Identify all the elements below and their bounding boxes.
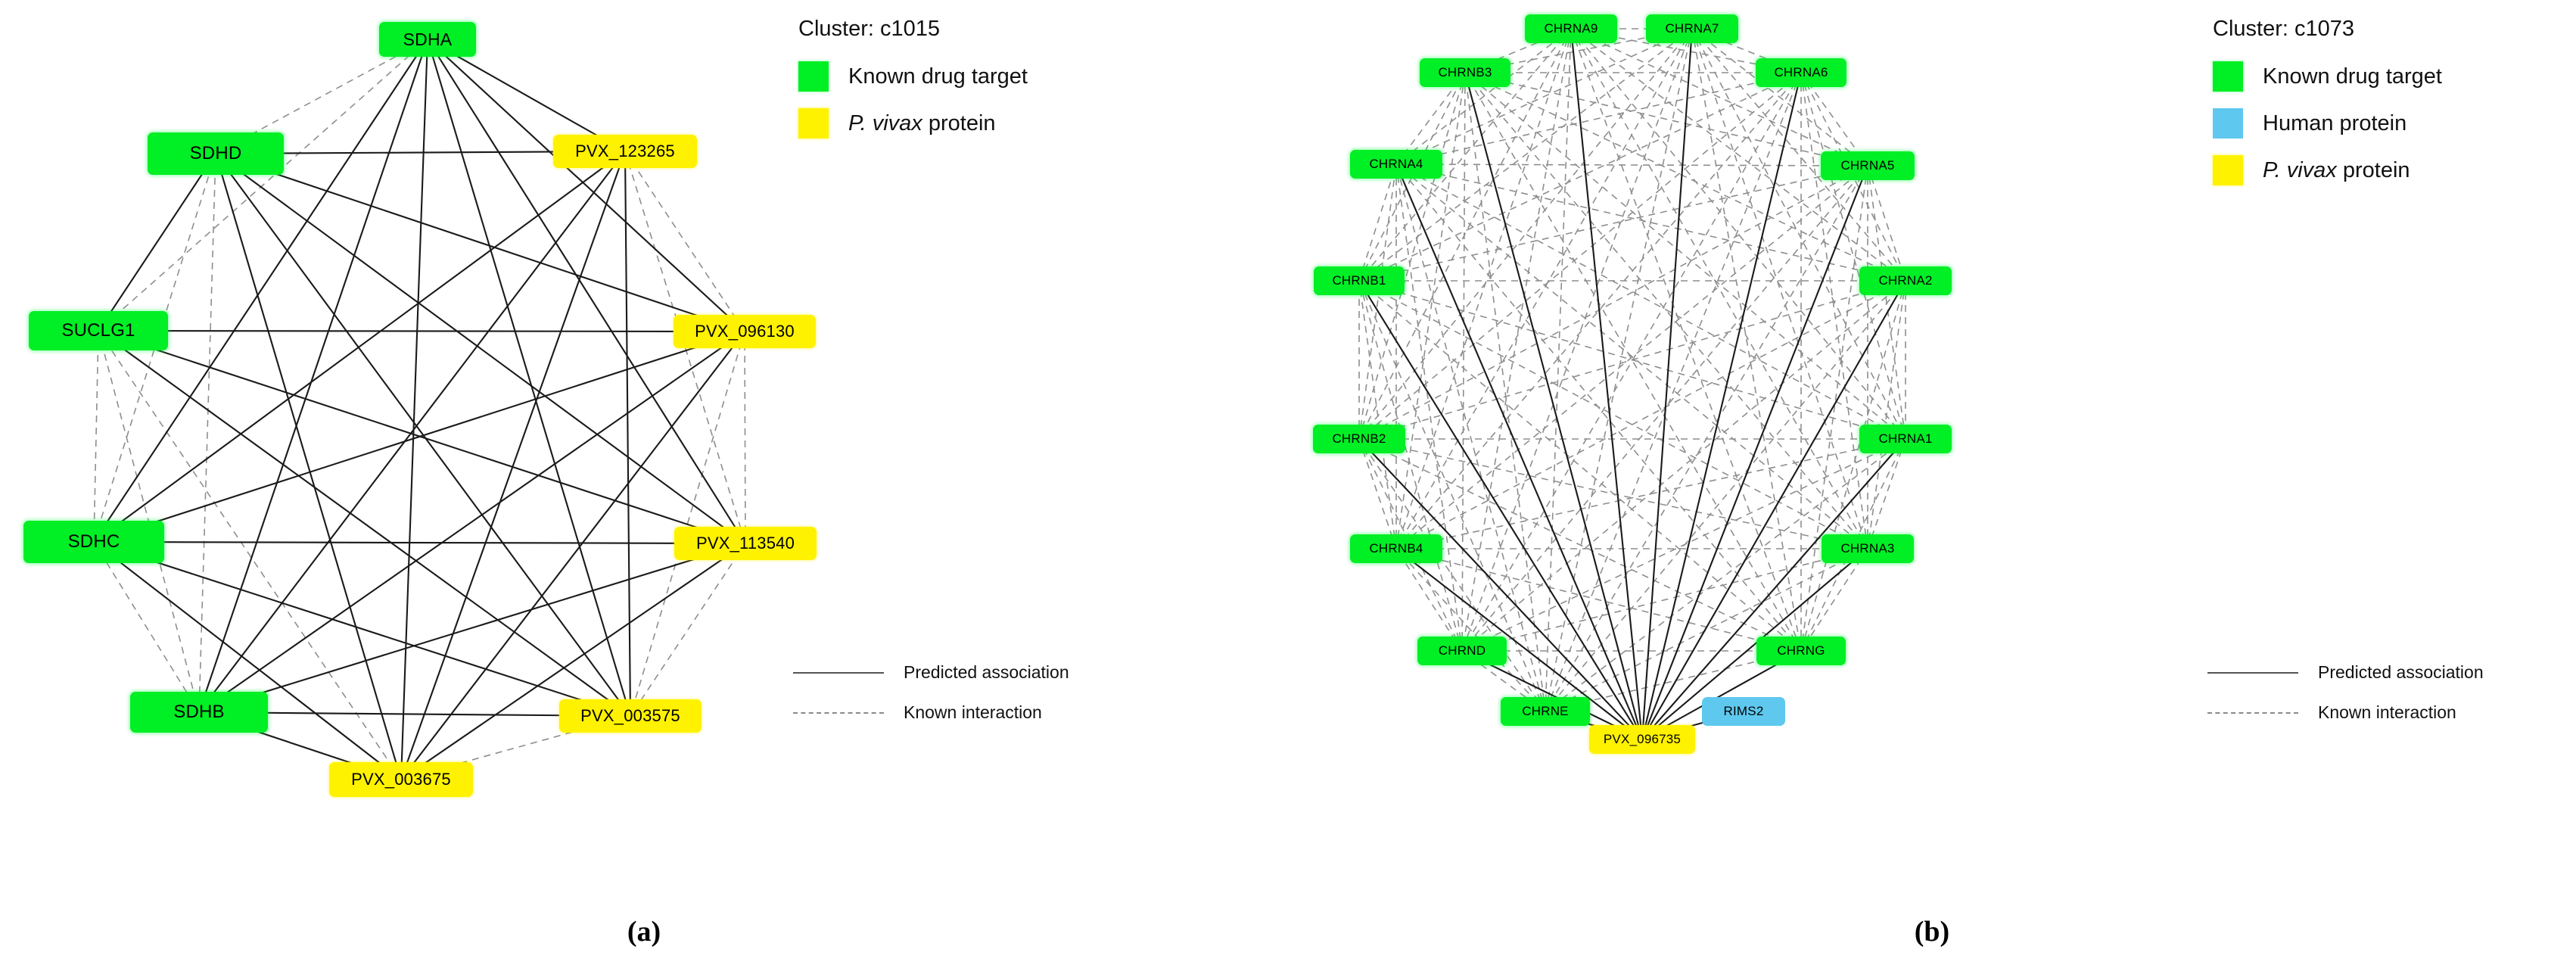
edge-known-interaction: [1868, 281, 1906, 549]
edge-known-interaction: [1359, 166, 1868, 281]
edge-known-interaction: [625, 151, 745, 332]
legend-italic-species-a: P. vivax: [848, 111, 922, 135]
node-chrnb1[interactable]: CHRNB1: [1314, 266, 1405, 295]
edge-known-interaction: [1396, 164, 1906, 439]
legend-item-vivax-protein-b: P. vivax protein: [2213, 155, 2442, 185]
node-pvx_123265[interactable]: PVX_123265: [553, 135, 697, 168]
edge-legend-row-predicted-a: Predicted association: [793, 662, 1069, 683]
edge-known-interaction: [94, 542, 199, 712]
node-label: PVX_096735: [1604, 732, 1681, 747]
node-sdhc[interactable]: SDHC: [23, 521, 164, 563]
edge-predicted-association: [94, 151, 625, 542]
network-panel-b: CHRNA9CHRNA7CHRNB3CHRNA6CHRNA4CHRNA5CHRN…: [1288, 0, 2576, 855]
node-suclg1[interactable]: SUCLG1: [29, 311, 168, 350]
node-label: CHRNB2: [1332, 431, 1386, 447]
edge-known-interaction: [1396, 164, 1462, 651]
edge-predicted-association: [94, 542, 745, 543]
legend-label-human-protein-b: Human protein: [2263, 111, 2406, 136]
node-label: PVX_113540: [696, 534, 795, 553]
edge-predicted-association: [428, 39, 745, 332]
edge-known-interaction: [1396, 164, 1868, 549]
edge-legend-row-predicted-b: Predicted association: [2207, 662, 2484, 683]
node-label: PVX_003575: [580, 706, 680, 726]
cluster-label-a: Cluster: c1015: [798, 17, 1028, 42]
legend-item-known-drug-target-a: Known drug target: [798, 61, 1028, 92]
node-label: SUCLG1: [61, 320, 135, 341]
node-chrna9[interactable]: CHRNA9: [1525, 14, 1617, 43]
edge-known-interaction: [1801, 166, 1868, 651]
node-chrna5[interactable]: CHRNA5: [1821, 151, 1915, 180]
node-label: PVX_123265: [575, 142, 675, 161]
node-label: SDHC: [68, 531, 120, 553]
edge-known-interaction: [1359, 164, 1396, 281]
legend-swatch-green-a: [798, 61, 829, 92]
edge-known-interaction: [1462, 73, 1465, 651]
solid-line-sample-b: [2207, 668, 2298, 678]
node-chrng[interactable]: CHRNG: [1756, 637, 1846, 665]
node-sdhb[interactable]: SDHB: [130, 692, 268, 733]
edge-known-interaction: [1396, 73, 1465, 549]
edge-predicted-association: [1642, 439, 1906, 739]
edge-known-interaction: [1571, 29, 1868, 166]
legend-label-known-drug-target-b: Known drug target: [2263, 64, 2442, 89]
edge-predicted-association: [98, 331, 745, 332]
panel-b-edge-legend: Predicted association Known interaction: [2207, 662, 2484, 742]
edge-known-interaction: [1545, 73, 1801, 711]
legend-swatch-yellow-a: [798, 108, 829, 139]
edge-known-interaction: [1396, 29, 1571, 549]
legend-label-suffix-b: protein: [2337, 158, 2410, 182]
node-chrna3[interactable]: CHRNA3: [1822, 534, 1914, 563]
figure-root: SDHAPVX_123265PVX_096130PVX_113540PVX_00…: [0, 0, 2576, 965]
panel-b-legend: Cluster: c1073 Known drug target Human p…: [2213, 17, 2442, 202]
edge-known-interaction: [1868, 166, 1906, 439]
legend-item-human-protein-b: Human protein: [2213, 108, 2442, 139]
edge-known-interaction: [94, 331, 98, 542]
node-sdha[interactable]: SDHA: [379, 22, 476, 57]
edge-known-interaction: [1692, 29, 1868, 549]
panel-caption-b: (b): [1288, 915, 2576, 948]
edge-known-interaction: [745, 332, 745, 543]
legend-label-vivax-protein-b: P. vivax protein: [2263, 158, 2410, 183]
edge-predicted-association: [625, 151, 630, 716]
edge-legend-row-known-b: Known interaction: [2207, 702, 2484, 723]
edge-legend-label-predicted-b: Predicted association: [2318, 662, 2484, 683]
edge-predicted-association: [94, 542, 401, 780]
node-label: CHRNA6: [1774, 65, 1828, 80]
edge-predicted-association: [401, 151, 625, 780]
edge-known-interaction: [1396, 549, 1462, 651]
legend-label-known-drug-target-a: Known drug target: [848, 64, 1028, 89]
node-label: PVX_096130: [695, 322, 795, 341]
node-label: SDHA: [403, 30, 453, 50]
legend-label-suffix-a: protein: [922, 111, 996, 135]
edge-predicted-association: [401, 543, 745, 780]
node-chrna2[interactable]: CHRNA2: [1859, 266, 1952, 295]
node-label: CHRNA5: [1840, 158, 1894, 173]
cluster-label-b: Cluster: c1073: [2213, 17, 2442, 42]
node-label: CHRNB1: [1332, 273, 1386, 288]
panel-a-legend: Cluster: c1015 Known drug target P. viva…: [798, 17, 1028, 155]
edge-known-interaction: [1462, 29, 1692, 651]
node-pvx_003675[interactable]: PVX_003675: [329, 762, 473, 797]
edge-legend-label-predicted-a: Predicted association: [904, 662, 1069, 683]
edge-known-interaction: [1801, 73, 1906, 439]
node-label: SDHB: [173, 702, 224, 723]
legend-item-known-drug-target-b: Known drug target: [2213, 61, 2442, 92]
edge-known-interaction: [1801, 281, 1906, 651]
node-sdhd[interactable]: SDHD: [148, 132, 284, 175]
legend-swatch-yellow-b: [2213, 155, 2243, 185]
edge-known-interaction: [1571, 29, 1906, 439]
legend-item-vivax-protein-a: P. vivax protein: [798, 108, 1028, 139]
node-pvx_096130[interactable]: PVX_096130: [674, 315, 816, 348]
node-chrna4[interactable]: CHRNA4: [1350, 150, 1442, 179]
node-pvx_096735[interactable]: PVX_096735: [1589, 725, 1695, 754]
edge-known-interaction: [1359, 281, 1462, 651]
node-chrna7[interactable]: CHRNA7: [1646, 14, 1738, 43]
edge-predicted-association: [1359, 439, 1642, 739]
edge-legend-label-known-a: Known interaction: [904, 702, 1042, 723]
node-rims2[interactable]: RIMS2: [1702, 697, 1785, 726]
node-chrnb4[interactable]: CHRNB4: [1350, 534, 1442, 563]
legend-swatch-green-b: [2213, 61, 2243, 92]
node-label: PVX_003675: [351, 770, 451, 789]
network-panel-a: SDHAPVX_123265PVX_096130PVX_113540PVX_00…: [0, 0, 1288, 855]
node-chrna6[interactable]: CHRNA6: [1756, 58, 1846, 87]
edge-known-interaction: [1359, 164, 1396, 439]
node-chrne[interactable]: CHRNE: [1501, 697, 1590, 726]
dashed-line-sample-a: [793, 708, 884, 718]
edge-known-interaction: [1359, 439, 1396, 549]
node-label: CHRNE: [1522, 704, 1568, 719]
panel-a-edge-legend: Predicted association Known interaction: [793, 662, 1069, 742]
edge-known-interaction: [199, 154, 216, 712]
node-label: CHRNG: [1777, 643, 1825, 658]
node-label: CHRNB4: [1369, 541, 1423, 556]
edge-predicted-association: [94, 542, 630, 716]
panel-caption-a: (a): [0, 915, 1288, 948]
edge-predicted-association: [216, 154, 401, 780]
edge-predicted-association: [216, 154, 745, 332]
edge-known-interaction: [630, 543, 745, 716]
legend-italic-species-b: P. vivax: [2263, 158, 2337, 182]
edge-legend-row-known-a: Known interaction: [793, 702, 1069, 723]
edge-predicted-association: [428, 39, 745, 543]
node-label: CHRNB3: [1438, 65, 1492, 80]
edge-known-interaction: [1545, 281, 1906, 711]
node-label: RIMS2: [1724, 704, 1764, 719]
node-label: CHRNA3: [1840, 541, 1894, 556]
node-chrnd[interactable]: CHRND: [1417, 637, 1507, 665]
node-chrna1[interactable]: CHRNA1: [1859, 425, 1952, 453]
legend-label-vivax-protein-a: P. vivax protein: [848, 111, 996, 136]
node-label: CHRNA2: [1878, 273, 1932, 288]
edge-known-interaction: [1868, 166, 1906, 281]
edge-known-interaction: [1396, 164, 1868, 166]
dashed-line-sample-b: [2207, 708, 2298, 718]
node-label: SDHD: [190, 143, 242, 164]
edge-legend-label-known-b: Known interaction: [2318, 702, 2456, 723]
node-chrnb2[interactable]: CHRNB2: [1313, 425, 1405, 453]
node-label: CHRND: [1439, 643, 1486, 658]
node-label: CHRNA1: [1878, 431, 1932, 447]
node-pvx_113540[interactable]: PVX_113540: [674, 527, 817, 560]
edge-predicted-association: [199, 151, 625, 712]
edge-predicted-association: [199, 332, 745, 712]
node-label: CHRNA9: [1544, 21, 1598, 36]
node-chrnb3[interactable]: CHRNB3: [1420, 58, 1510, 87]
node-pvx_003575[interactable]: PVX_003575: [559, 699, 702, 733]
node-label: CHRNA7: [1665, 21, 1719, 36]
edge-known-interaction: [1462, 281, 1906, 651]
edge-known-interaction: [1396, 549, 1545, 711]
edge-known-interaction: [1396, 29, 1692, 164]
edge-known-interaction: [1465, 73, 1868, 549]
edge-known-interaction: [1801, 549, 1868, 651]
edge-known-interaction: [1868, 439, 1906, 549]
node-label: CHRNA4: [1369, 157, 1423, 172]
legend-swatch-blue-b: [2213, 108, 2243, 139]
solid-line-sample-a: [793, 668, 884, 678]
edge-known-interaction: [1359, 281, 1396, 549]
